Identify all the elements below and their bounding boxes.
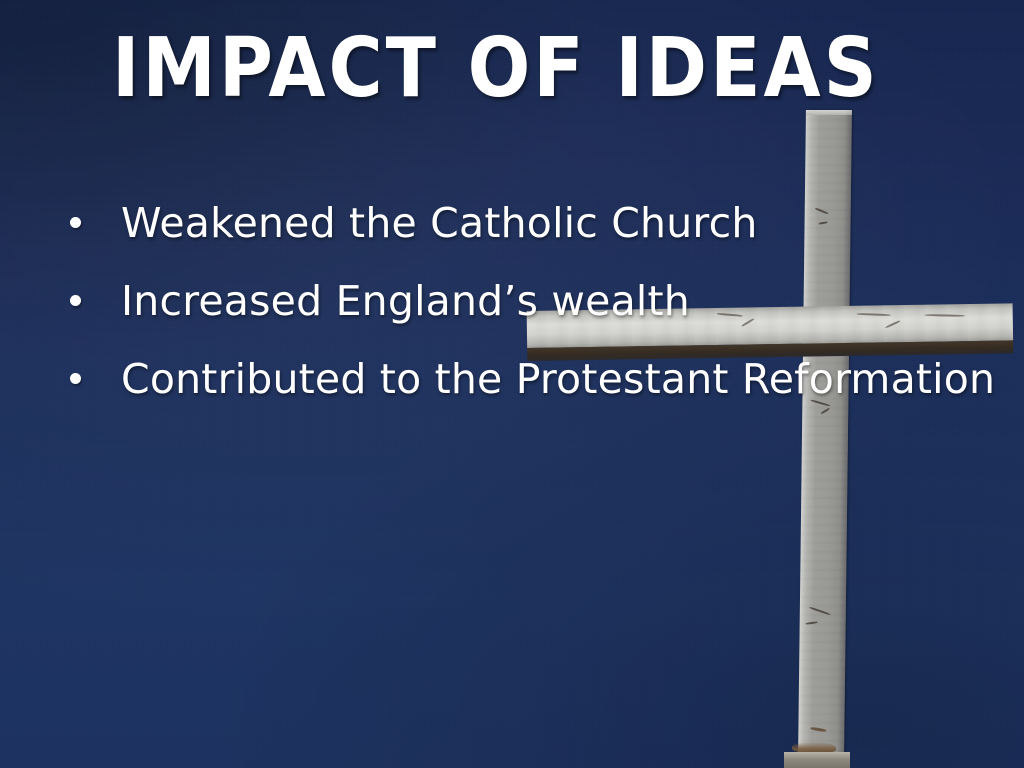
bullet-item-label: Weakened the Catholic Church [121, 196, 758, 250]
bullet-dot-icon [70, 295, 81, 306]
bullet-item-label: Contributed to the Protestant Reformatio… [121, 352, 995, 406]
presentation-slide: IMPACT OF IDEAS Weakened the Catholic Ch… [0, 0, 1024, 768]
bullet-dot-icon [70, 217, 81, 228]
slide-title: IMPACT OF IDEAS [112, 28, 880, 110]
slide-bullet-list: Weakened the Catholic Church Increased E… [62, 196, 1012, 430]
bullet-item: Weakened the Catholic Church [62, 196, 1012, 274]
bullet-item: Increased England’s wealth [62, 274, 1012, 352]
bullet-item: Contributed to the Protestant Reformatio… [62, 352, 1012, 430]
bullet-item-label: Increased England’s wealth [121, 274, 690, 328]
bullet-dot-icon [70, 373, 81, 384]
